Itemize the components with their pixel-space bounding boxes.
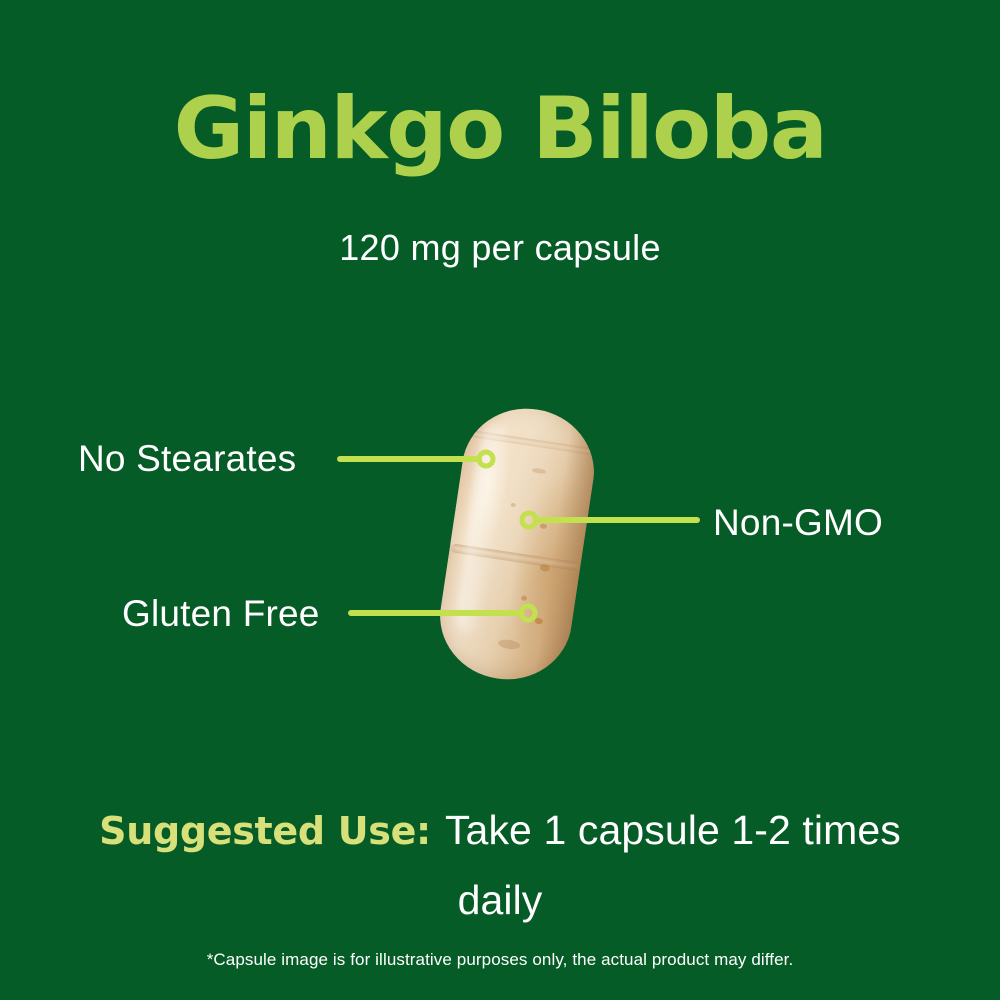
dosage-subtitle: 120 mg per capsule <box>0 228 1000 268</box>
callout-label-no-stearates: No Stearates <box>78 440 296 477</box>
suggested-use-label: Suggested Use: <box>99 809 431 853</box>
callout-label-non-gmo: Non-GMO <box>713 504 883 541</box>
suggested-use-text: Take 1 capsule 1-2 times daily <box>445 807 901 923</box>
callout-label-gluten-free: Gluten Free <box>122 595 320 632</box>
capsule-body <box>432 400 603 689</box>
disclaimer-footnote: *Capsule image is for illustrative purpo… <box>0 950 1000 970</box>
product-infographic-canvas: Ginkgo Biloba 120 mg per capsule <box>0 0 1000 1000</box>
capsule-image <box>432 400 603 689</box>
suggested-use-block: Suggested Use:Take 1 capsule 1-2 times d… <box>60 800 940 940</box>
page-title: Ginkgo Biloba <box>0 86 1000 172</box>
capsule-speck <box>498 638 521 650</box>
capsule-illustration <box>437 402 597 684</box>
capsule-speck <box>521 595 528 601</box>
